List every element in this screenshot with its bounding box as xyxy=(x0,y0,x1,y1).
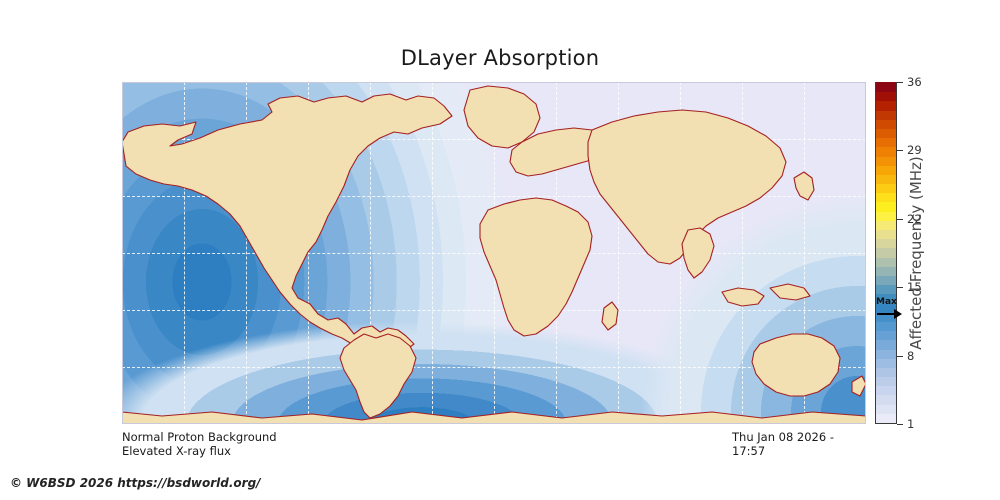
colorbar-swatch xyxy=(876,128,896,138)
colorbar-swatch xyxy=(876,248,896,258)
status-notes: Normal Proton Background Elevated X-ray … xyxy=(122,430,277,458)
note-line-1: Normal Proton Background xyxy=(122,430,277,444)
page-title: DLayer Absorption xyxy=(0,46,1000,70)
colorbar-swatch xyxy=(876,110,896,120)
colorbar-swatch xyxy=(876,340,896,350)
colorbar-swatch xyxy=(876,321,896,331)
colorbar-swatch xyxy=(876,220,896,230)
colorbar-swatch xyxy=(876,119,896,129)
coastlines-layer xyxy=(122,82,866,424)
colorbar-swatch xyxy=(876,229,896,239)
colorbar-swatch xyxy=(876,156,896,166)
colorbar-swatch xyxy=(876,395,896,405)
world-map xyxy=(122,82,866,424)
colorbar-tick-mark xyxy=(897,356,903,357)
colorbar-swatch xyxy=(876,376,896,386)
colorbar xyxy=(875,82,897,424)
timestamp: Thu Jan 08 2026 - 17:57 xyxy=(732,430,866,458)
colorbar-swatch xyxy=(876,174,896,184)
copyright-footer: © W6BSD 2026 https://bsdworld.org/ xyxy=(10,476,261,490)
colorbar-swatch xyxy=(876,138,896,148)
colorbar-swatch xyxy=(876,211,896,221)
colorbar-swatch xyxy=(876,193,896,203)
colorbar-swatch xyxy=(876,358,896,368)
colorbar-swatch xyxy=(876,257,896,267)
colorbar-tick-mark xyxy=(897,287,903,288)
colorbar-swatch xyxy=(876,92,896,102)
note-line-2: Elevated X-ray flux xyxy=(122,444,277,458)
colorbar-swatch xyxy=(876,239,896,249)
colorbar-tick-mark xyxy=(897,82,903,83)
colorbar-swatch xyxy=(876,202,896,212)
colorbar-swatch xyxy=(876,266,896,276)
colorbar-swatch xyxy=(876,147,896,157)
colorbar-swatch xyxy=(876,184,896,194)
colorbar-swatch xyxy=(876,413,896,423)
colorbar-swatch xyxy=(876,386,896,396)
colorbar-tick-mark xyxy=(897,150,903,151)
colorbar-gradient xyxy=(875,82,897,424)
colorbar-swatch xyxy=(876,349,896,359)
colorbar-axis-label: Affected Frequency (MHz) xyxy=(905,82,927,424)
colorbar-swatch xyxy=(876,331,896,341)
colorbar-swatch xyxy=(876,404,896,414)
colorbar-swatch xyxy=(876,285,896,295)
colorbar-swatch xyxy=(876,303,896,313)
colorbar-swatch xyxy=(876,367,896,377)
colorbar-tick-mark xyxy=(897,219,903,220)
colorbar-swatch xyxy=(876,294,896,304)
colorbar-swatch xyxy=(876,165,896,175)
colorbar-swatch xyxy=(876,312,896,322)
colorbar-swatch xyxy=(876,82,896,92)
colorbar-swatch xyxy=(876,275,896,285)
colorbar-swatch xyxy=(876,101,896,111)
colorbar-tick-mark xyxy=(897,424,903,425)
